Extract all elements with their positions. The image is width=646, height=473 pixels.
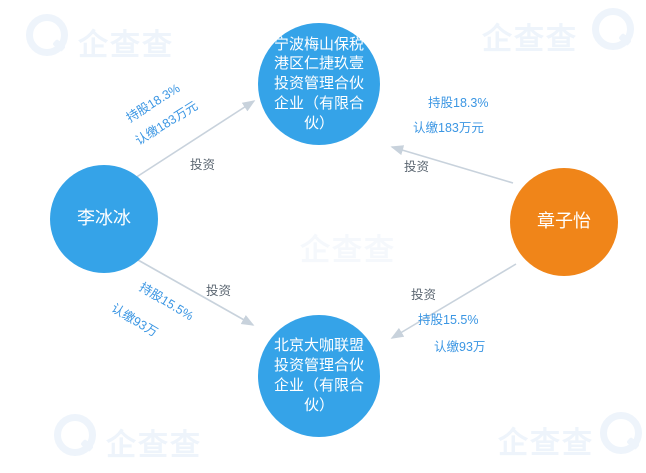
edge-right-bottom-paid: 认缴93万 [434, 340, 485, 356]
edge-right-top-relation: 投资 [404, 160, 429, 176]
edge-right-top-share: 持股18.3% [428, 96, 488, 112]
node-company-bottom[interactable]: 北京大咖联盟投资管理合伙企业（有限合伙） [258, 315, 380, 437]
node-company-top[interactable]: 宁波梅山保税港区仁捷玖壹投资管理合伙企业（有限合伙） [258, 23, 380, 145]
node-person-right[interactable]: 章子怡 [510, 168, 618, 276]
edge-right-bottom-relation: 投资 [411, 288, 436, 304]
node-company-bottom-label: 北京大咖联盟投资管理合伙企业（有限合伙） [270, 336, 368, 415]
edge-left-top-relation: 投资 [190, 158, 215, 174]
edge-left-bottom-relation: 投资 [206, 284, 231, 300]
edge-right-top-paid: 认缴183万元 [413, 121, 484, 137]
node-person-right-label: 章子怡 [537, 210, 591, 234]
edge-right-bottom-share: 持股15.5% [418, 313, 478, 329]
relationship-graph: 企查查 企查查 企查查 企查查 企查查 宁波梅山保税港区仁捷玖壹投资管理合伙企业… [0, 0, 646, 473]
node-person-left[interactable]: 李冰冰 [50, 165, 158, 273]
node-company-top-label: 宁波梅山保税港区仁捷玖壹投资管理合伙企业（有限合伙） [270, 35, 368, 134]
node-person-left-label: 李冰冰 [77, 207, 131, 231]
